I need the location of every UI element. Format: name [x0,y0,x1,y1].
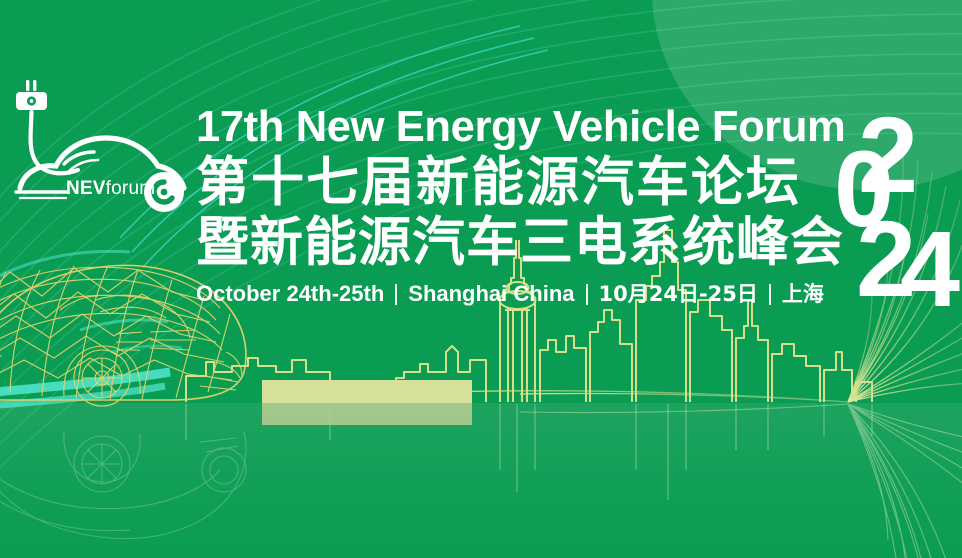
title-chinese-line-1: 第十七届新能源汽车论坛 [196,154,844,212]
dateline-date-english: October 24th-25th [196,281,384,307]
dateline-city-english: Shanghai China [408,281,574,307]
year-2024-graphic: 2 0 2 4 2024 [830,100,962,310]
dateline-separator-3 [769,284,771,305]
title-chinese-line-2: 暨新能源汽车三电系统峰会 [196,214,844,272]
event-banner: NEVforum 17th New Energy Vehicle Forum 第… [0,0,962,558]
water-reflection-band [0,403,962,558]
dateline: October 24th-25th Shanghai China 10月24日-… [196,281,844,307]
pale-accent-bar [262,380,472,403]
logo-wordmark: NEVforum [66,178,155,200]
logo-wordmark-forum: forum [106,178,156,199]
pale-accent-bar-reflection [262,403,472,425]
dateline-separator-1 [395,284,397,305]
dateline-date-chinese: 10月24日-25日 [599,281,758,307]
title-english: 17th New Energy Vehicle Forum [196,104,838,150]
dateline-separator-2 [586,284,588,305]
year-bottom-digits-four: 4 [900,208,960,310]
logo-wordmark-nev: NEV [66,178,106,199]
headline-block: 17th New Energy Vehicle Forum 第十七届新能源汽车论… [196,104,844,307]
dateline-city-chinese: 上海 [782,281,824,307]
year-label: 2024 [830,310,831,311]
